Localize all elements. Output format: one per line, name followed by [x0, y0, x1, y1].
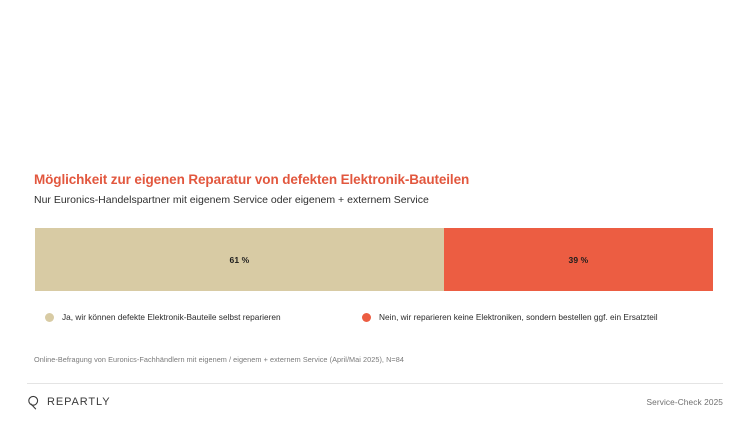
footer: REPARTLY Service-Check 2025: [27, 392, 723, 412]
page-title: Möglichkeit zur eigenen Reparatur von de…: [34, 172, 718, 188]
legend-item-no: Nein, wir reparieren keine Elektroniken,…: [362, 313, 658, 322]
repartly-logo-icon: [27, 395, 40, 410]
legend-item-label: Nein, wir reparieren keine Elektroniken,…: [379, 313, 658, 321]
chart-legend: Ja, wir können defekte Elektronik-Bautei…: [45, 313, 717, 329]
bar-segment-no: 39 %: [444, 228, 713, 291]
legend-item-yes: Ja, wir können defekte Elektronik-Bautei…: [45, 313, 281, 322]
bar-segment-yes-value: 61 %: [230, 255, 250, 265]
footer-divider: [27, 383, 723, 384]
footer-right-text: Service-Check 2025: [646, 397, 723, 407]
stacked-bar-chart: 61 % 39 %: [35, 228, 713, 291]
brand-name: REPARTLY: [47, 396, 110, 408]
legend-dot-icon: [45, 313, 54, 322]
source-note: Online-Befragung von Euronics-Fachhändle…: [34, 355, 404, 364]
brand-logo: REPARTLY: [27, 395, 110, 410]
page-subtitle: Nur Euronics-Handelspartner mit eigenem …: [34, 194, 718, 207]
bar-segment-yes: 61 %: [35, 228, 444, 291]
bar-segment-no-value: 39 %: [569, 255, 589, 265]
legend-item-label: Ja, wir können defekte Elektronik-Bautei…: [62, 313, 281, 321]
slide-canvas: Möglichkeit zur eigenen Reparatur von de…: [0, 0, 750, 422]
chart-header: Möglichkeit zur eigenen Reparatur von de…: [34, 172, 718, 207]
legend-dot-icon: [362, 313, 371, 322]
